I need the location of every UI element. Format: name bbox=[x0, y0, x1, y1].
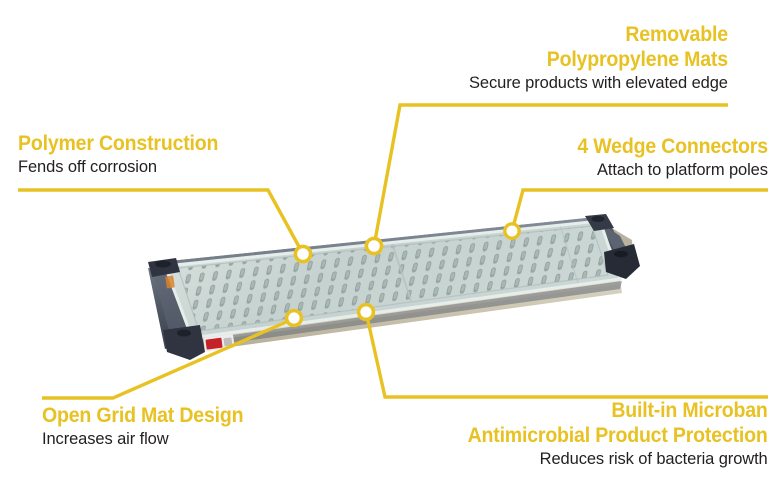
callout-polymer-construction: Polymer Construction Fends off corrosion bbox=[18, 131, 233, 177]
leader-open-grid-design bbox=[42, 319, 293, 398]
marker-polypropylene-mats[interactable] bbox=[366, 238, 381, 253]
product-feature-diagram: Polymer Construction Fends off corrosion… bbox=[0, 0, 770, 499]
callout-title: Polymer Construction bbox=[18, 131, 218, 156]
callout-title-line1: Removable bbox=[480, 22, 728, 47]
leader-open-grid-main bbox=[42, 318, 294, 398]
callout-subtitle: Secure products with elevated edge bbox=[469, 72, 728, 93]
callout-subtitle: Reduces risk of bacteria growth bbox=[455, 448, 768, 469]
callout-title: 4 Wedge Connectors bbox=[577, 134, 768, 159]
leader-wedge-connectors bbox=[512, 190, 768, 231]
callout-title: Open Grid Mat Design bbox=[42, 403, 243, 428]
callout-markers bbox=[287, 224, 520, 326]
callout-open-grid-design: Open Grid Mat Design Increases air flow bbox=[42, 403, 259, 449]
callout-built-in-microban: Built-in Microban Antimicrobial Product … bbox=[445, 398, 768, 469]
marker-microban[interactable] bbox=[359, 305, 374, 320]
leader-open-grid bbox=[42, 318, 294, 398]
callout-wedge-connectors: 4 Wedge Connectors Attach to platform po… bbox=[563, 134, 768, 180]
callout-title-line1: Built-in Microban bbox=[468, 398, 768, 423]
callout-subtitle: Increases air flow bbox=[42, 428, 252, 449]
callout-subtitle: Fends off corrosion bbox=[18, 156, 227, 177]
marker-open-grid-design[interactable] bbox=[287, 311, 302, 326]
marker-polymer-construction[interactable] bbox=[295, 246, 310, 261]
callout-subtitle: Attach to platform poles bbox=[569, 159, 768, 180]
leader-polymer-construction bbox=[18, 190, 303, 254]
callout-title-line2: Antimicrobial Product Protection bbox=[468, 423, 768, 448]
callout-title-line2: Polypropylene Mats bbox=[480, 47, 728, 72]
leader-microban bbox=[366, 312, 768, 397]
callout-polypropylene-mats: Removable Polypropylene Mats Secure prod… bbox=[461, 22, 728, 93]
marker-wedge-connectors[interactable] bbox=[505, 224, 519, 238]
